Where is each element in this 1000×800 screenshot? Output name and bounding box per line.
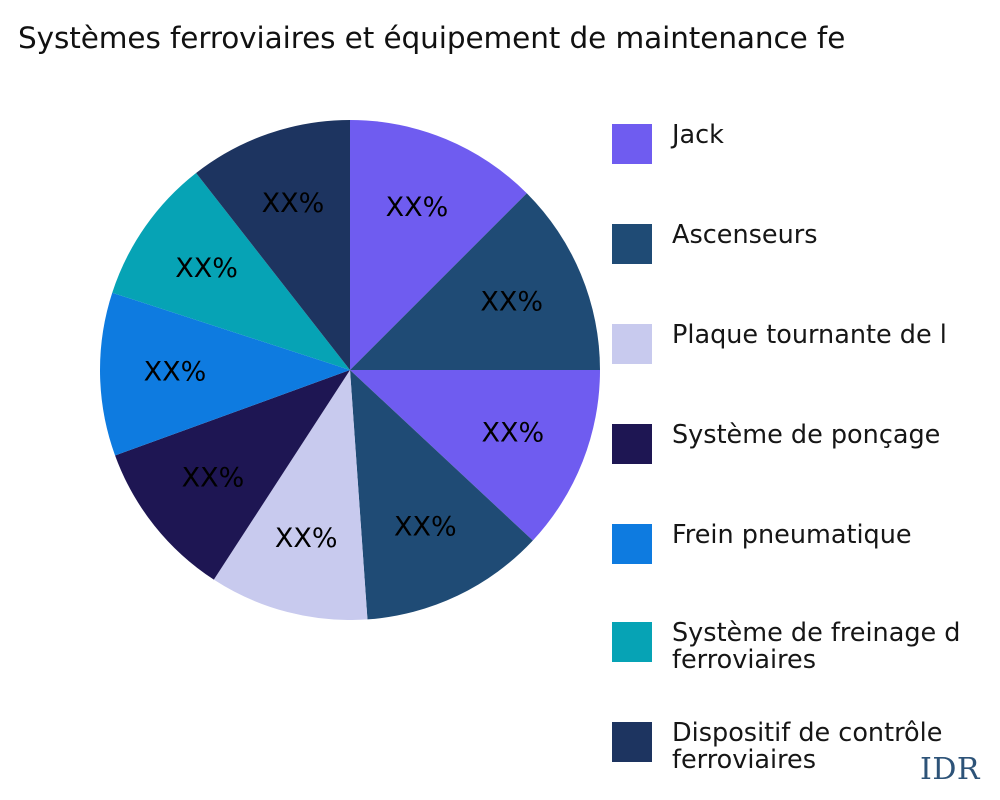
- legend-color-swatch: [612, 224, 652, 264]
- pie-slice-label: XX%: [275, 523, 338, 554]
- legend-item-label: Système de ponçage: [672, 422, 940, 449]
- legend-color-swatch: [612, 324, 652, 364]
- legend-item-label: Ascenseurs: [672, 222, 818, 249]
- legend-item-label: Plaque tournante de l: [672, 322, 947, 349]
- legend-item-label: Dispositif de contrôle ferroviaires: [672, 720, 942, 774]
- page-title: Systèmes ferroviaires et équipement de m…: [18, 22, 1000, 56]
- pie-svg: XX%XX%XX%XX%XX%XX%XX%XX%XX%: [100, 120, 600, 620]
- legend-item[interactable]: Système de ponçage: [612, 422, 1000, 464]
- legend-color-swatch: [612, 622, 652, 662]
- pie-chart-plot: XX%XX%XX%XX%XX%XX%XX%XX%XX%: [100, 120, 600, 620]
- pie-slice-label: XX%: [481, 418, 544, 449]
- legend-item-label: Système de freinage d ferroviaires: [672, 620, 961, 674]
- pie-slice-label: XX%: [182, 462, 245, 493]
- idr-watermark: IDR: [920, 752, 980, 787]
- legend-item-label: Jack: [672, 122, 724, 149]
- legend-color-swatch: [612, 722, 652, 762]
- legend-color-swatch: [612, 424, 652, 464]
- pie-slice-label: XX%: [144, 357, 207, 388]
- legend-color-swatch: [612, 524, 652, 564]
- legend-item[interactable]: Ascenseurs: [612, 222, 1000, 264]
- legend-item[interactable]: Frein pneumatique: [612, 522, 1000, 564]
- pie-slice-label: XX%: [480, 287, 543, 318]
- pie-slice-label: XX%: [262, 188, 325, 219]
- legend-item[interactable]: Plaque tournante de l: [612, 322, 1000, 364]
- legend-item-label: Frein pneumatique: [672, 522, 912, 549]
- pie-slice-label: XX%: [175, 253, 238, 284]
- legend-color-swatch: [612, 124, 652, 164]
- pie-chart-figure: Systèmes ferroviaires et équipement de m…: [0, 0, 1000, 800]
- pie-slice-label: XX%: [386, 192, 449, 223]
- pie-slice-label: XX%: [394, 512, 457, 543]
- legend-item[interactable]: Jack: [612, 122, 1000, 164]
- legend-item[interactable]: Système de freinage d ferroviaires: [612, 620, 1000, 674]
